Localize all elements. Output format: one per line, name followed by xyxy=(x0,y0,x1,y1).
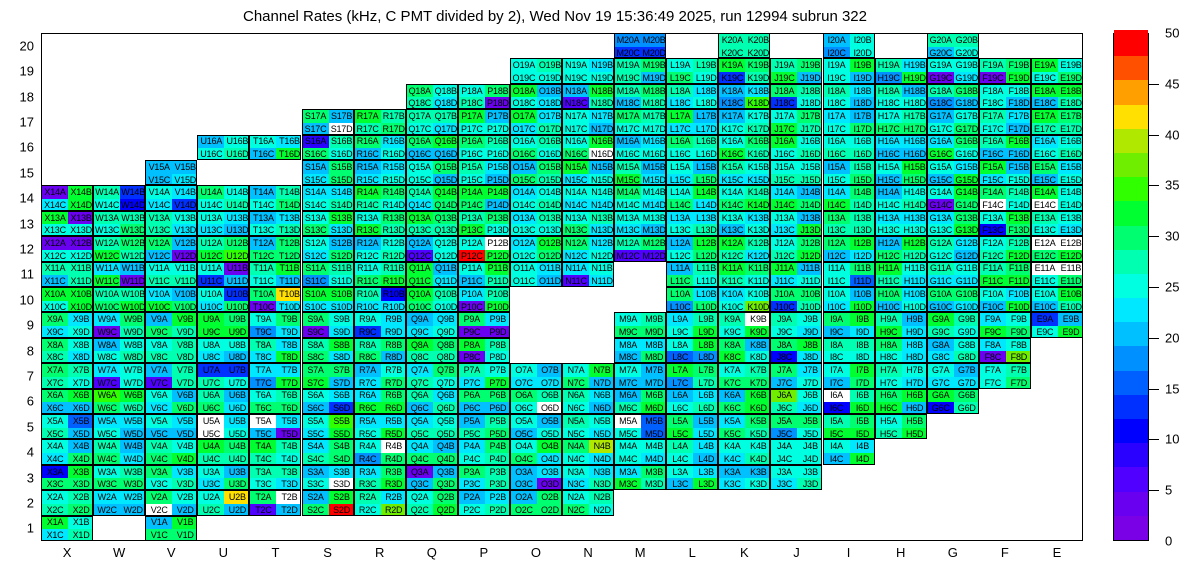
x-axis-label: V xyxy=(167,545,176,560)
colorbar-tick-label: 30 xyxy=(1165,229,1179,244)
colorbar-tick xyxy=(1149,439,1159,440)
y-axis-label: 17 xyxy=(8,114,34,129)
x-axis-label: G xyxy=(948,545,958,560)
x-axis-label: R xyxy=(375,545,384,560)
x-axis-label: X xyxy=(63,545,72,560)
channel-rate-map[interactable]: X1AX1BX1CX1DX2AX2BX2CX2DX3AX3BX3CX3DX4AX… xyxy=(41,33,1083,541)
y-axis-label: 13 xyxy=(8,216,34,231)
y-axis-label: 12 xyxy=(8,241,34,256)
x-axis-label: K xyxy=(740,545,749,560)
y-axis-label: 1 xyxy=(8,521,34,536)
x-axis: XWVUTSRQPONMLKJIHGFE xyxy=(41,543,1083,567)
y-axis-label: 11 xyxy=(8,267,34,282)
colorbar-tick xyxy=(1149,389,1159,390)
x-axis-label: L xyxy=(689,545,696,560)
colorbar-tick-label: 35 xyxy=(1165,178,1179,193)
colorbar-tick xyxy=(1149,135,1159,136)
y-axis-label: 9 xyxy=(8,318,34,333)
x-axis-label: O xyxy=(531,545,541,560)
colorbar-ticks: 05101520253035404550 xyxy=(1113,33,1196,541)
page-title: Channel Rates (kHz, C PMT divided by 2),… xyxy=(0,8,1110,25)
x-axis-label: J xyxy=(793,545,800,560)
x-axis-label: T xyxy=(271,545,279,560)
x-axis-label: N xyxy=(583,545,592,560)
plot-frame xyxy=(41,33,1083,541)
colorbar-tick-label: 15 xyxy=(1165,381,1179,396)
y-axis-label: 2 xyxy=(8,495,34,510)
x-axis-label: S xyxy=(323,545,332,560)
y-axis-label: 16 xyxy=(8,140,34,155)
y-axis-label: 20 xyxy=(8,38,34,53)
x-axis-label: W xyxy=(113,545,125,560)
colorbar-tick xyxy=(1149,338,1159,339)
y-axis-label: 14 xyxy=(8,191,34,206)
colorbar-tick xyxy=(1149,185,1159,186)
y-axis-label: 5 xyxy=(8,419,34,434)
colorbar-tick xyxy=(1149,236,1159,237)
colorbar-tick-label: 10 xyxy=(1165,432,1179,447)
y-axis-label: 7 xyxy=(8,368,34,383)
y-axis-label: 4 xyxy=(8,445,34,460)
y-axis: 1234567891011121314151617181920 xyxy=(0,33,34,541)
y-axis-label: 3 xyxy=(8,470,34,485)
x-axis-label: F xyxy=(1001,545,1009,560)
y-axis-label: 10 xyxy=(8,292,34,307)
colorbar-tick-label: 40 xyxy=(1165,127,1179,142)
colorbar-tick-label: 5 xyxy=(1165,483,1172,498)
colorbar-tick-label: 25 xyxy=(1165,280,1179,295)
x-axis-label: Q xyxy=(427,545,437,560)
x-axis-label: H xyxy=(896,545,905,560)
colorbar-tick-label: 0 xyxy=(1165,534,1172,549)
colorbar-tick-label: 50 xyxy=(1165,26,1179,41)
colorbar-tick-label: 45 xyxy=(1165,76,1179,91)
colorbar-tick xyxy=(1149,287,1159,288)
y-axis-label: 8 xyxy=(8,343,34,358)
x-axis-label: M xyxy=(635,545,646,560)
y-axis-label: 6 xyxy=(8,394,34,409)
x-axis-label: E xyxy=(1053,545,1062,560)
y-axis-label: 19 xyxy=(8,64,34,79)
colorbar-tick xyxy=(1149,84,1159,85)
x-axis-label: P xyxy=(480,545,489,560)
y-axis-label: 18 xyxy=(8,89,34,104)
colorbar-tick-label: 20 xyxy=(1165,330,1179,345)
y-axis-label: 15 xyxy=(8,165,34,180)
x-axis-label: I xyxy=(847,545,851,560)
x-axis-label: U xyxy=(219,545,228,560)
colorbar-tick xyxy=(1149,490,1159,491)
